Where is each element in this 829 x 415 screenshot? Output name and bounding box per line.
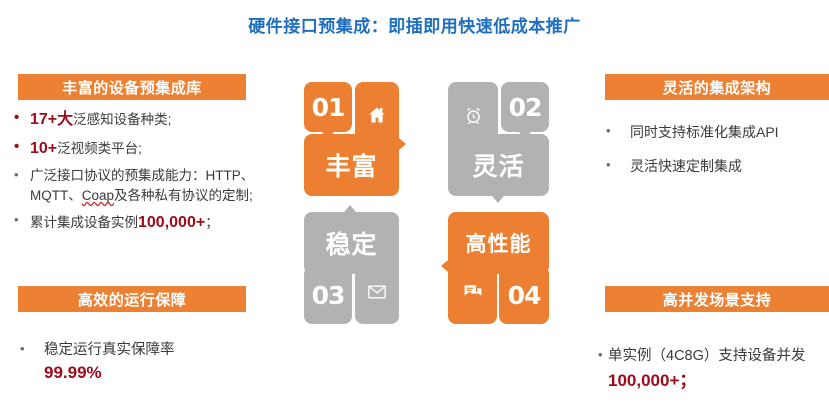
list-item-rest: 泛感知设备种类; <box>73 112 171 127</box>
list-item-text: 17+大泛感知设备种类; <box>30 108 286 131</box>
quadrant-01-label: 丰富 <box>304 134 399 196</box>
list-item-text: 单实例（4C8G）支持设备并发100,000+； <box>608 346 829 394</box>
list-item-text: 累计集成设备实例100,000+； <box>30 211 286 234</box>
spellcheck-word: Coap <box>82 188 114 203</box>
list-item-text: 同时支持标准化集成API <box>630 122 826 142</box>
quadrant-01-number: 01 <box>304 82 352 132</box>
list-item: • 累计集成设备实例100,000+； <box>14 211 286 234</box>
list-item-part: 及各种私有协议的定制; <box>114 188 253 203</box>
panel-header-rich-device-library: 丰富的设备预集成库 <box>18 74 246 100</box>
list-item-rest: 泛视频类平台; <box>57 141 142 156</box>
panel-header-label: 丰富的设备预集成库 <box>62 77 202 98</box>
bullet-marker: • <box>598 346 608 365</box>
quadrant-01-label-chip: 丰富 <box>304 134 399 196</box>
slide-canvas: 硬件接口预集成：即插即用快速低成本推广 丰富的设备预集成库 • 17+大泛感知设… <box>0 0 829 415</box>
list-item: • 同时支持标准化集成API <box>606 122 826 142</box>
highlight-metric: 99.99% <box>44 363 102 382</box>
list-item: • 单实例（4C8G）支持设备并发100,000+； <box>598 346 829 394</box>
quadrant-03-icon-chip <box>355 260 399 324</box>
list-item-text: 10+泛视频类平台; <box>30 137 286 160</box>
quadrant-02-label-tail <box>492 196 504 203</box>
emphasis-value: 17+大 <box>30 111 73 128</box>
list-item: • 稳定运行真实保障率 <box>20 340 290 361</box>
panel-body-high-concurrency: • 单实例（4C8G）支持设备并发100,000+； <box>598 346 829 400</box>
bullet-marker: • <box>14 166 30 185</box>
bullet-marker: • <box>14 211 30 230</box>
quadrant-04-number-tail <box>518 260 530 267</box>
quadrant-02-label: 灵活 <box>448 134 549 196</box>
quadrant-02-number: 02 <box>501 82 549 132</box>
list-item-text: 广泛接口协议的预集成能力：HTTP、MQTT、Coap及各种私有协议的定制; <box>30 166 286 205</box>
bullet-marker: • <box>606 122 630 141</box>
panel-body-flexible-architecture: • 同时支持标准化集成API • 灵活快速定制集成 <box>606 122 826 183</box>
quadrant-01-icon-tail <box>399 138 406 150</box>
bullet-marker: • <box>20 340 44 359</box>
chat-icon <box>448 260 497 324</box>
bullet-marker: • <box>14 108 30 128</box>
panel-header-label: 高并发场景支持 <box>663 289 772 310</box>
list-item-part: ； <box>205 215 219 230</box>
quadrant-01-number-chip: 01 <box>304 82 352 132</box>
quadrant-03-number-chip: 03 <box>304 266 352 324</box>
page-title: 硬件接口预集成：即插即用快速低成本推广 <box>0 12 829 37</box>
list-item-text: 稳定运行真实保障率 <box>44 340 290 361</box>
quadrant-04-label-tail <box>441 260 448 272</box>
list-item-part: 单实例（4C8G）支持设备并发 <box>608 348 805 364</box>
quadrant-02-label-chip: 灵活 <box>448 134 549 196</box>
bullet-marker: • <box>606 156 630 175</box>
quadrant-04-number: 04 <box>499 266 549 324</box>
panel-header-efficient-operation: 高效的运行保障 <box>18 286 246 312</box>
emphasis-value: 100,000+； <box>608 371 696 390</box>
highlight-metric-wrap: 99.99% <box>20 363 290 383</box>
panel-header-label: 高效的运行保障 <box>78 289 187 310</box>
list-item: • 灵活快速定制集成 <box>606 156 826 176</box>
four-quadrant-diagram: 01 丰富 <box>300 82 590 327</box>
quadrant-04-icon-chip <box>448 260 497 324</box>
panel-body-rich-device-library: • 17+大泛感知设备种类; • 10+泛视频类平台; • 广泛接口协议的预集成… <box>14 108 286 240</box>
quadrant-02-number-chip: 02 <box>501 82 549 132</box>
bullet-marker: • <box>14 137 30 157</box>
panel-body-efficient-operation: • 稳定运行真实保障率 99.99% <box>20 340 290 383</box>
panel-header-label: 灵活的集成架构 <box>663 77 772 98</box>
panel-header-high-concurrency: 高并发场景支持 <box>605 286 829 312</box>
envelope-icon <box>355 260 399 324</box>
emphasis-value: 10+ <box>30 140 57 157</box>
quadrant-03-number: 03 <box>304 266 352 324</box>
panel-header-flexible-architecture: 灵活的集成架构 <box>605 74 829 100</box>
list-item-text: 灵活快速定制集成 <box>630 156 826 176</box>
quadrant-04-number-chip: 04 <box>499 266 549 324</box>
list-item: • 广泛接口协议的预集成能力：HTTP、MQTT、Coap及各种私有协议的定制; <box>14 166 286 205</box>
list-item: • 10+泛视频类平台; <box>14 137 286 160</box>
quadrant-03-label-tail <box>344 205 356 212</box>
emphasis-value: 100,000+ <box>138 214 205 231</box>
list-item: • 17+大泛感知设备种类; <box>14 108 286 131</box>
list-item-part: 累计集成设备实例 <box>30 215 138 230</box>
